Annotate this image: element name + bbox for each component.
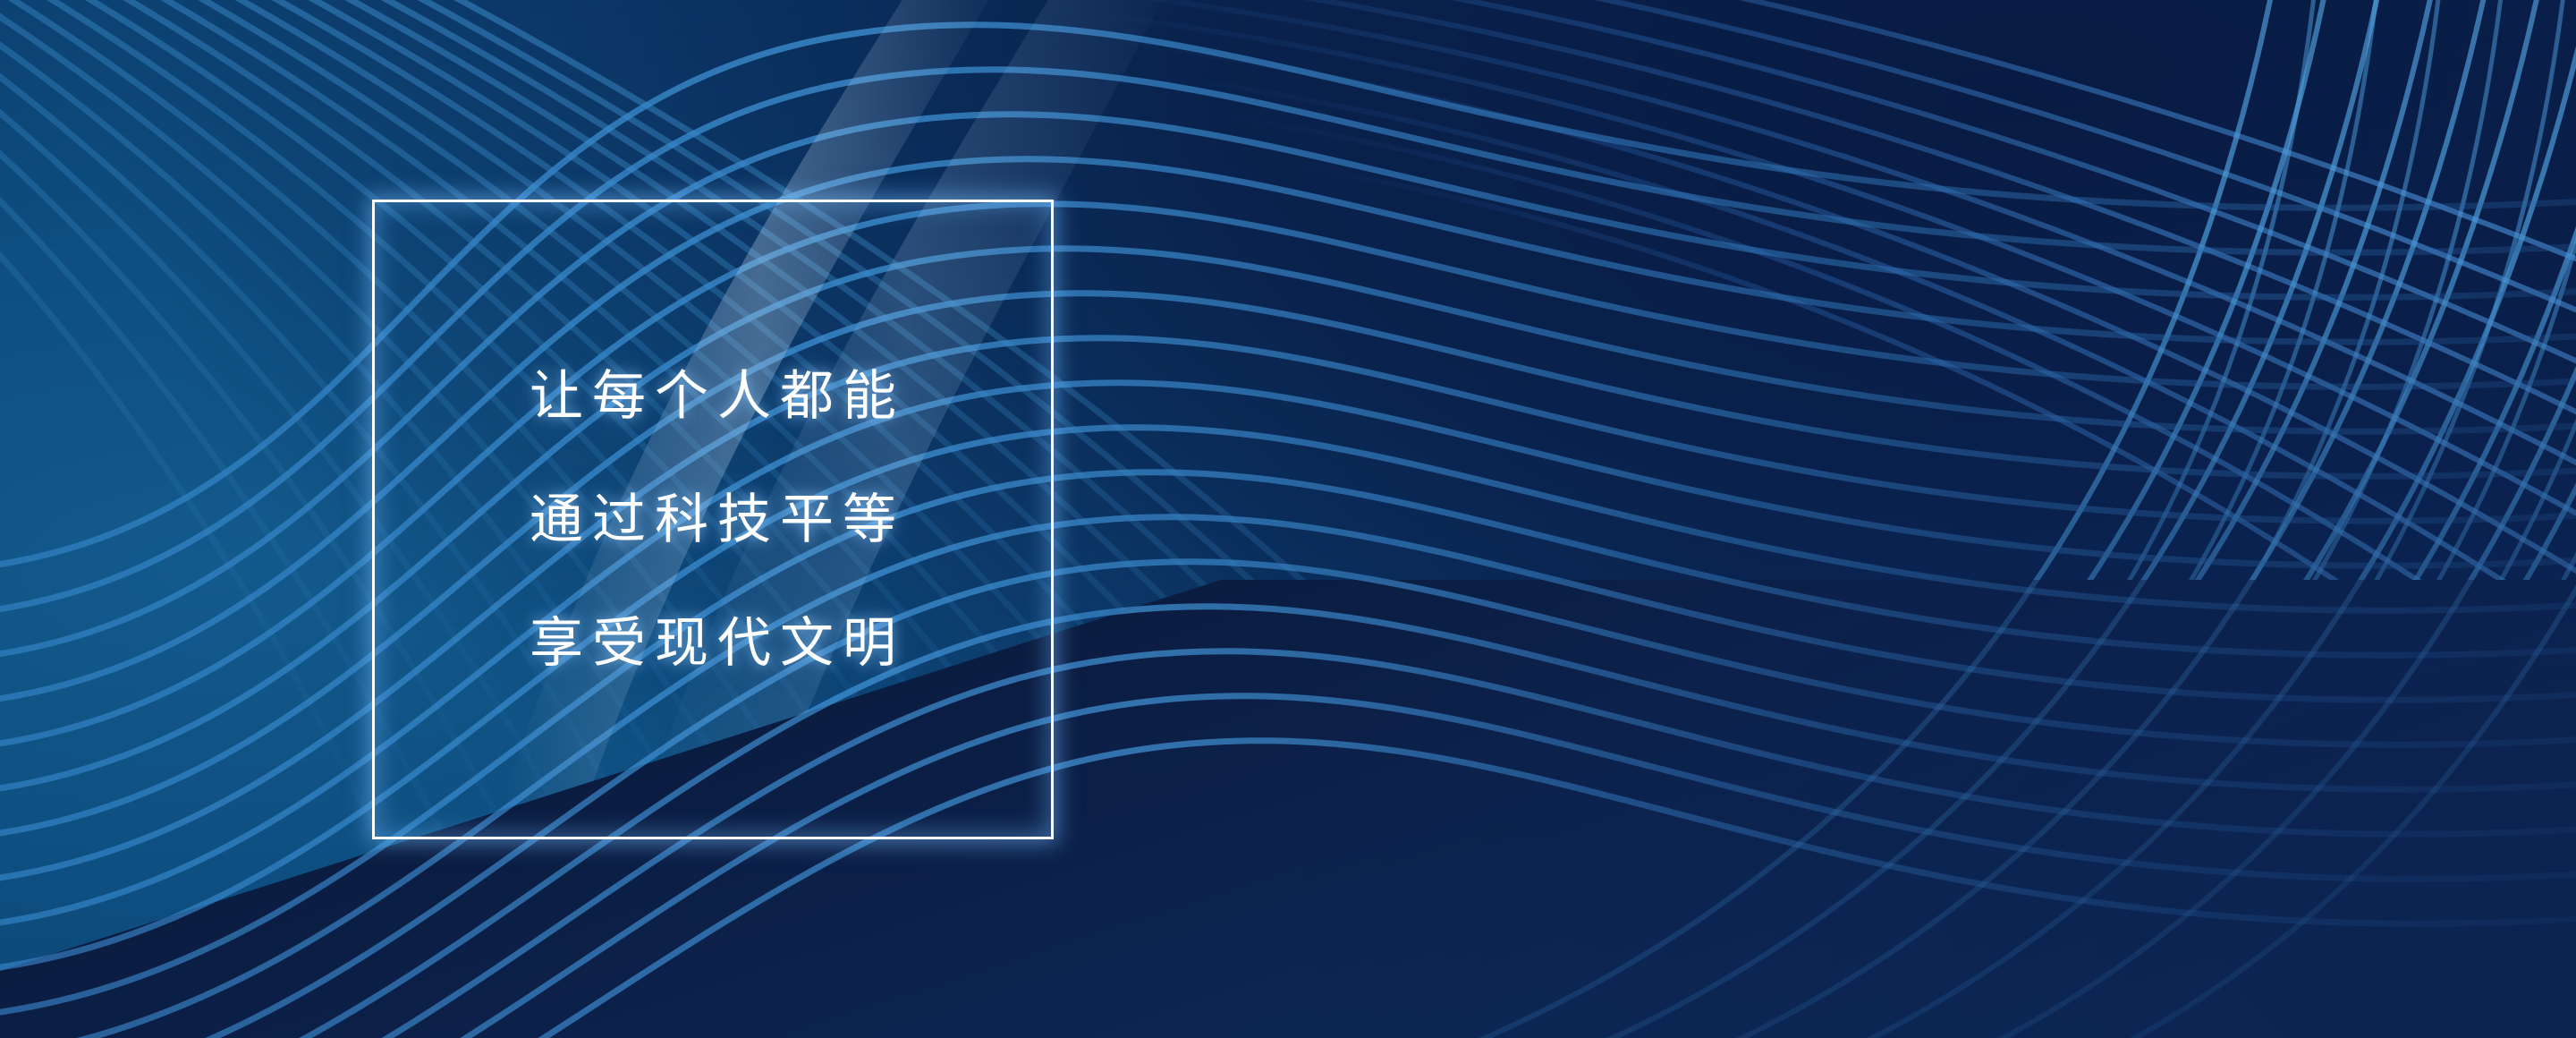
slogan-block: 让每个人都能 通过科技平等 享受现代文明 xyxy=(372,200,1054,839)
slogan-line-1: 让每个人都能 xyxy=(521,370,905,423)
slogan-line-2: 通过科技平等 xyxy=(521,493,905,547)
slogan-line-3: 享受现代文明 xyxy=(521,617,905,670)
hero-banner: 让每个人都能 通过科技平等 享受现代文明 xyxy=(0,0,2576,1038)
